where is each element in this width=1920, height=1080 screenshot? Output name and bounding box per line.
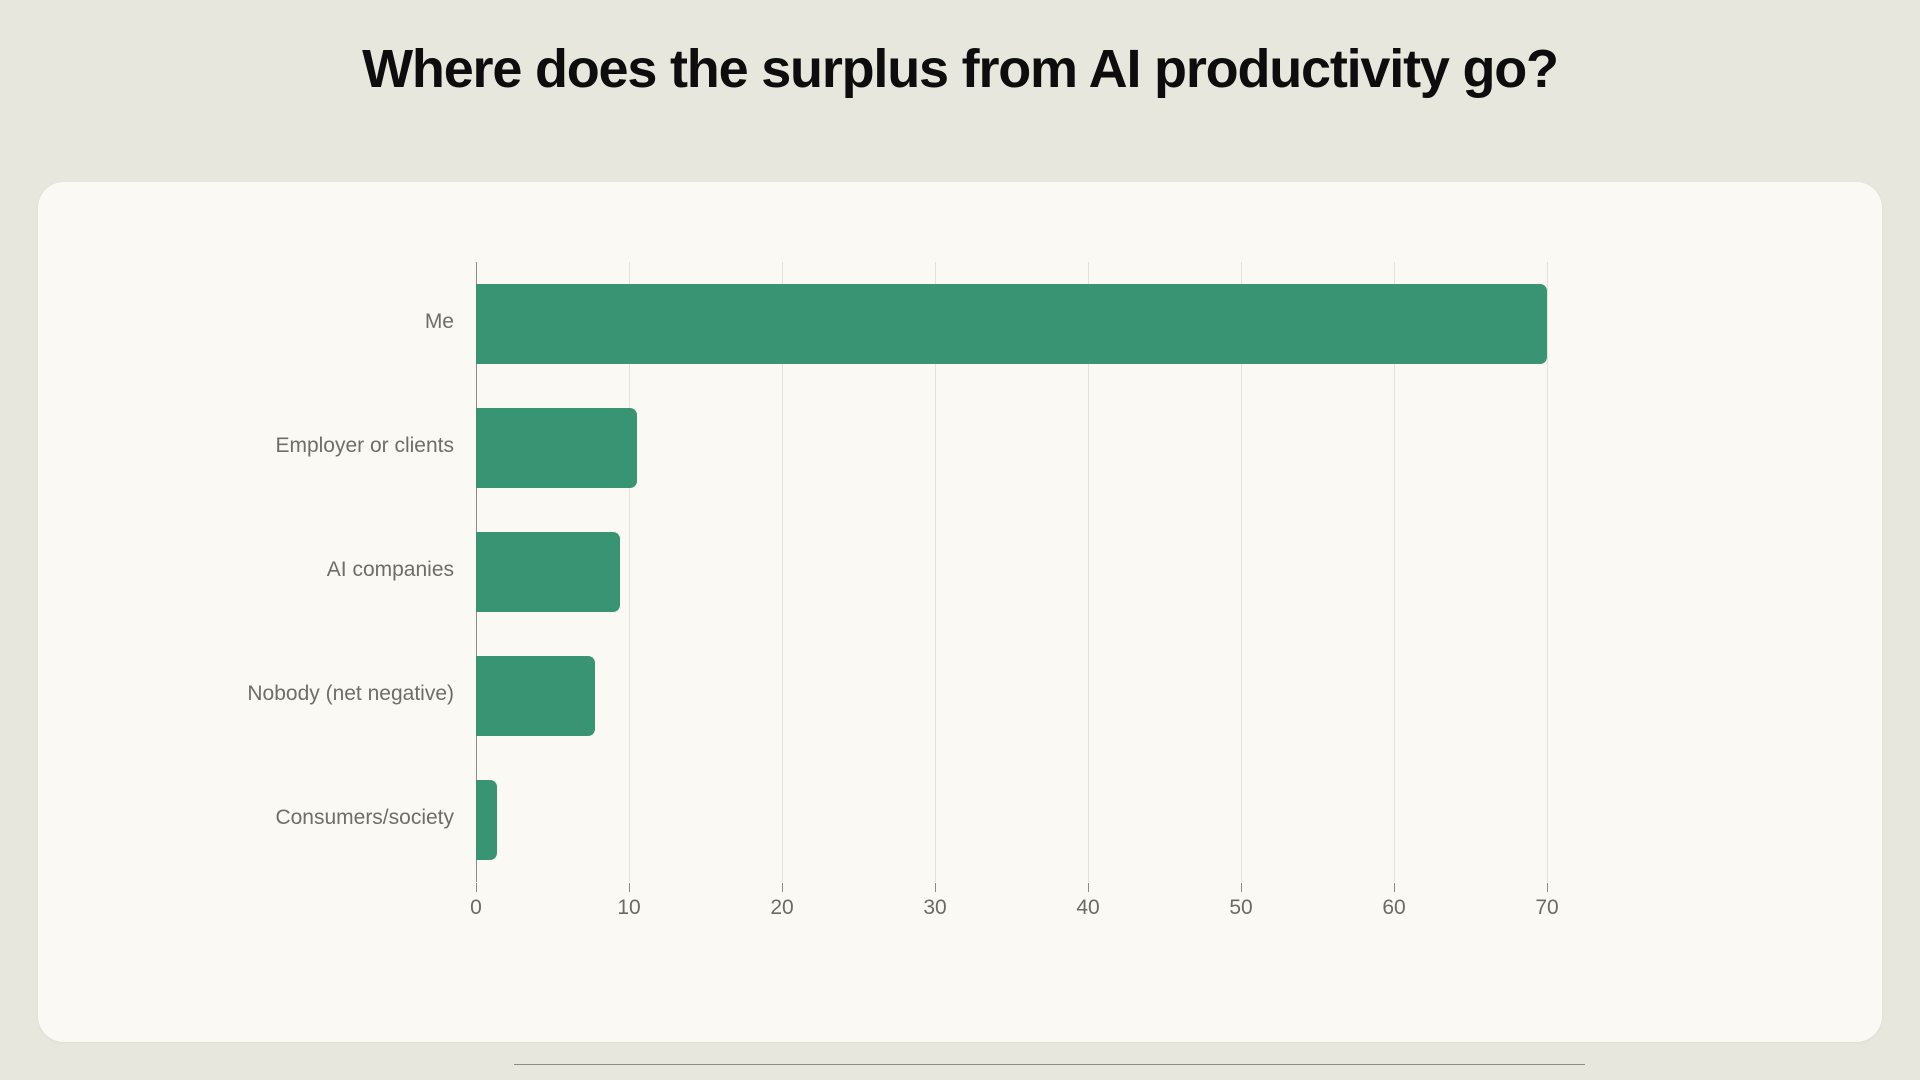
x-tick-label-60: 60 [1382, 896, 1405, 920]
tick-mark-50 [1241, 883, 1242, 892]
bar-nobody-net-negative[interactable] [476, 656, 595, 735]
x-tick-label-0: 0 [470, 896, 482, 920]
bar-fill [476, 284, 1547, 363]
bar-fill [476, 780, 497, 859]
x-tick-label-30: 30 [923, 896, 946, 920]
bar-employer-or-clients[interactable] [476, 408, 637, 487]
tick-mark-60 [1394, 883, 1395, 892]
chart-card: 010203040506070 MeEmployer or clientsAI … [38, 182, 1882, 1042]
tick-mark-70 [1547, 883, 1548, 892]
bar-fill [476, 656, 595, 735]
x-axis-line [514, 1064, 1585, 1065]
tick-mark-10 [629, 883, 630, 892]
x-tick-label-10: 10 [617, 896, 640, 920]
x-tick-label-40: 40 [1076, 896, 1099, 920]
category-label-1: Employer or clients [275, 434, 454, 458]
category-label-2: AI companies [327, 558, 454, 582]
bar-consumers-society[interactable] [476, 780, 497, 859]
page-root: Where does the surplus from AI productiv… [0, 0, 1920, 1080]
x-tick-label-20: 20 [770, 896, 793, 920]
page-title: Where does the surplus from AI productiv… [0, 38, 1920, 100]
category-label-0: Me [425, 310, 454, 334]
bar-fill [476, 408, 637, 487]
gridline-70 [1547, 262, 1548, 882]
category-label-3: Nobody (net negative) [247, 682, 454, 706]
x-tick-label-50: 50 [1229, 896, 1252, 920]
tick-mark-30 [935, 883, 936, 892]
bar-me[interactable] [476, 284, 1547, 363]
tick-mark-0 [476, 883, 477, 892]
category-label-4: Consumers/society [275, 806, 454, 830]
bar-fill [476, 532, 620, 611]
tick-mark-40 [1088, 883, 1089, 892]
x-tick-label-70: 70 [1535, 896, 1558, 920]
tick-mark-20 [782, 883, 783, 892]
bar-ai-companies[interactable] [476, 532, 620, 611]
